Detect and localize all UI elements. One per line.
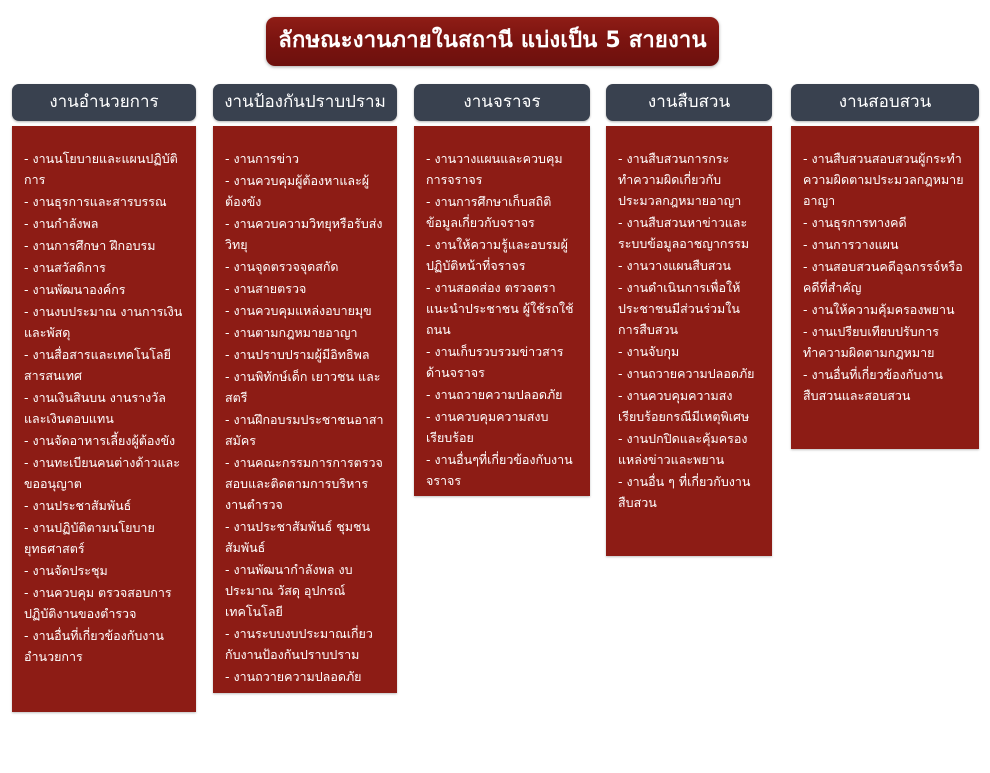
list-item: - งานวางแผนและควบคุมการจราจร: [426, 148, 578, 190]
list-item: - งานจัดอาหารเลี้ยงผู้ต้องขัง: [24, 430, 184, 451]
column-header-ammuaykan[interactable]: งานอำนวยการ: [12, 84, 196, 121]
column-header-sopsuan[interactable]: งานสอบสวน: [791, 84, 979, 121]
list-item: - งานจัดประชุม: [24, 560, 184, 581]
list-item: - งานควบคุมความสงบเรียบร้อย: [225, 688, 385, 730]
list-item: - งานธุรการทางคดี: [803, 212, 967, 233]
column-header-charachon[interactable]: งานจราจร: [414, 84, 590, 121]
diagram-title-text: ลักษณะงานภายในสถานี แบ่งเป็น 5 สายงาน: [278, 29, 706, 53]
list-item: - งานควบคุมผู้ต้องหาและผู้ต้องขัง: [225, 170, 385, 212]
list-item: - งานควบคุมความสงบเรียบร้อย: [426, 406, 578, 448]
list-item: - งานคณะกรรมการการตรวจสอบและติดตามการบริ…: [225, 452, 385, 515]
column-body-suepsuan: - งานสืบสวนการกระทำความผิดเกี่ยวกับประมว…: [606, 126, 772, 556]
list-item: - งานควบความวิทยุหรือรับส่งวิทยุ: [225, 213, 385, 255]
column-suepsuan: งานสืบสวน - งานสืบสวนการกระทำความผิดเกี่…: [606, 84, 772, 556]
list-item: - งานสืบสวนสอบสวนผู้กระทำความผิดตามประมว…: [803, 148, 967, 211]
diagram-title-banner: ลักษณะงานภายในสถานี แบ่งเป็น 5 สายงาน: [266, 17, 719, 66]
list-item: - งานสืบสวนหาข่าวและระบบข้อมูลอาชญากรรม: [618, 212, 760, 254]
column-header-label: งานสืบสวน: [648, 94, 730, 111]
list-item: - งานพัฒนาองค์กร: [24, 279, 184, 300]
list-item: - งานจุดตรวจจุดสกัด: [225, 256, 385, 277]
list-item: - งานถวายความปลอดภัย: [426, 384, 578, 405]
list-item: - งานตามกฎหมายอาญา: [225, 322, 385, 343]
list-item: - งานอื่น ๆ ที่เกี่ยวกับงานสืบสวน: [618, 471, 760, 513]
column-header-suepsuan[interactable]: งานสืบสวน: [606, 84, 772, 121]
list-item: - งานการวางแผน: [803, 234, 967, 255]
column-body-ammuaykan: - งานนโยบายและแผนปฏิบัติการ - งานธุรการแ…: [12, 126, 196, 712]
column-sopsuan: งานสอบสวน - งานสืบสวนสอบสวนผู้กระทำความผ…: [791, 84, 979, 449]
list-item: - งานควบคุมความสงเรียบร้อยกรณีมีเหตุพิเศ…: [618, 385, 760, 427]
list-item: - งานดำเนินการเพื่อให้ประชาชนมีส่วนร่วมใ…: [618, 277, 760, 340]
column-body-pongkanprapram: - งานการข่าว - งานควบคุมผู้ต้องหาและผู้ต…: [213, 126, 397, 693]
list-item: - งานอื่นที่เกี่ยวข้องกับงานอำนวยการ: [24, 625, 184, 667]
column-header-label: งานจราจร: [463, 94, 540, 111]
list-item: - งานสืบสวนการกระทำความผิดเกี่ยวกับประมว…: [618, 148, 760, 211]
list-item: - งานอื่นที่เกี่ยวกับงานป้องกันปราบปราม: [225, 731, 385, 773]
list-item: - งานงบประมาณ งานการเงินและพัสดุ: [24, 301, 184, 343]
list-item: - งานนโยบายและแผนปฏิบัติการ: [24, 148, 184, 190]
list-item: - งานการข่าว: [225, 148, 385, 169]
list-item: - งานการศึกษาเก็บสถิติข้อมูลเกี่ยวกับจรา…: [426, 191, 578, 233]
list-item: - งานวางแผนสืบสวน: [618, 255, 760, 276]
list-item: - งานทะเบียนคนต่างด้าวและขออนุญาต: [24, 452, 184, 494]
list-item: - งานสอดส่อง ตรวจตรา แนะนำประชาชน ผู้ใช้…: [426, 277, 578, 340]
column-header-label: งานป้องกันปราบปราม: [224, 94, 386, 111]
column-pongkanprapram: งานป้องกันปราบปราม - งานการข่าว - งานควบ…: [213, 84, 397, 693]
list-item: - งานอื่นๆที่เกี่ยวข้องกับงานจราจร: [426, 449, 578, 491]
column-header-label: งานอำนวยการ: [49, 94, 158, 111]
list-item: - งานฝึกอบรมประชาชนอาสาสมัคร: [225, 409, 385, 451]
column-header-label: งานสอบสวน: [839, 94, 931, 111]
list-item: - งานควบคุม ตรวจสอบการปฏิบัติงานของตำรวจ: [24, 582, 184, 624]
list-item: - งานสอบสวนคดีอุฉกรรจ์หรือคดีที่สำคัญ: [803, 256, 967, 298]
column-body-charachon: - งานวางแผนและควบคุมการจราจร - งานการศึก…: [414, 126, 590, 496]
list-item: - งานเปรียบเทียบปรับการทำความผิดตามกฎหมา…: [803, 321, 967, 363]
list-item: - งานสายตรวจ: [225, 278, 385, 299]
list-item: - งานสวัสดิการ: [24, 257, 184, 278]
list-item: - งานปกปิดและคุ้มครองแหล่งข่าวและพยาน: [618, 428, 760, 470]
list-item: - งานระบบงบประมาณเกี่ยวกับงานป้องกันปราบ…: [225, 623, 385, 665]
list-item: - งานเก็บรวบรวมข่าวสารด้านจราจร: [426, 341, 578, 383]
list-item: - งานประชาสัมพันธ์: [24, 495, 184, 516]
list-item: - งานอื่นที่เกี่ยวข้องกับงานสืบสวนและสอบ…: [803, 364, 967, 406]
list-item: - งานถวายความปลอดภัย: [225, 666, 385, 687]
list-item: - งานพัฒนากำลังพล งบประมาณ วัสดุ อุปกรณ์…: [225, 559, 385, 622]
list-item: - งานควบคุมแหล่งอบายมุข: [225, 300, 385, 321]
list-item: - งานให้ความรู้และอบรมผู้ปฏิบัติหน้าที่จ…: [426, 234, 578, 276]
org-chart-diagram: ลักษณะงานภายในสถานี แบ่งเป็น 5 สายงาน งา…: [0, 0, 990, 714]
list-item: - งานปราบปรามผู้มีอิทธิพล: [225, 344, 385, 365]
list-item: - งานกำลังพล: [24, 213, 184, 234]
column-ammuaykan: งานอำนวยการ - งานนโยบายและแผนปฏิบัติการ …: [12, 84, 196, 712]
column-charachon: งานจราจร - งานวางแผนและควบคุมการจราจร - …: [414, 84, 590, 496]
list-item: - งานเงินสินบน งานรางวัลและเงินตอบแทน: [24, 387, 184, 429]
column-body-sopsuan: - งานสืบสวนสอบสวนผู้กระทำความผิดตามประมว…: [791, 126, 979, 449]
list-item: - งานประชาสัมพันธ์ ชุมชนสัมพันธ์: [225, 516, 385, 558]
list-item: - งานให้ความคุ้มครองพยาน: [803, 299, 967, 320]
list-item: - งานสื่อสารและเทคโนโลยีสารสนเทศ: [24, 344, 184, 386]
list-item: - งานการศึกษา ฝึกอบรม: [24, 235, 184, 256]
list-item: - งานธุรการและสารบรรณ: [24, 191, 184, 212]
list-item: - งานจับกุม: [618, 341, 760, 362]
list-item: - งานถวายความปลอดภัย: [618, 363, 760, 384]
list-item: - งานปฏิบัติตามนโยบายยุทธศาสตร์: [24, 517, 184, 559]
column-header-pongkanprapram[interactable]: งานป้องกันปราบปราม: [213, 84, 397, 121]
list-item: - งานพิทักษ์เด็ก เยาวชน และสตรี: [225, 366, 385, 408]
